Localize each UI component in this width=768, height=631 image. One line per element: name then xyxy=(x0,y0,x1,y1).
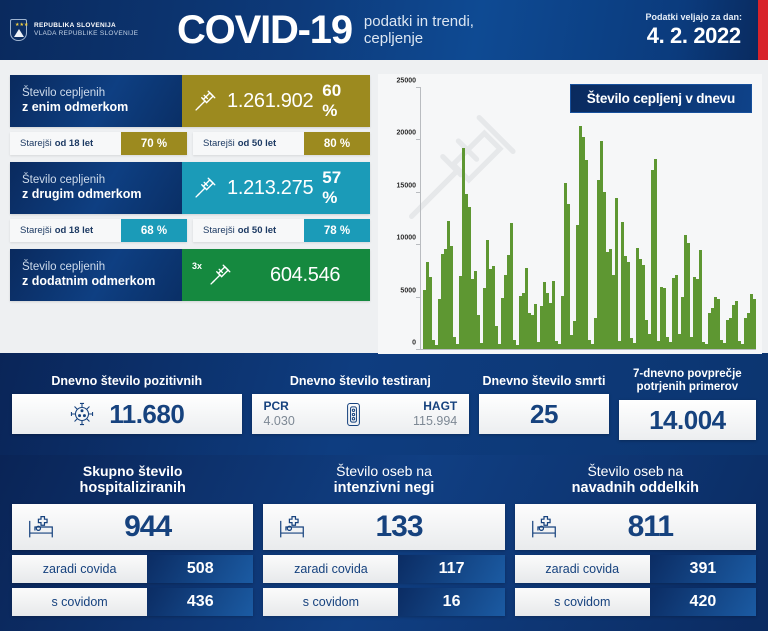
hospital-column-regular-wards: Število oseb na navadnih oddelkih 811 za… xyxy=(515,463,756,621)
hospital-bed-icon xyxy=(26,514,56,540)
vaccination-and-chart-section: Število cepljenih z enim odmerkom 1.261.… xyxy=(0,60,768,353)
value-due-to-covid: 508 xyxy=(147,555,253,583)
vaccination-panels: Število cepljenih z enim odmerkom 1.261.… xyxy=(0,68,378,353)
label-with-covid: s covidom xyxy=(515,588,650,616)
vaccination-row-first-dose: Število cepljenih z enim odmerkom 1.261.… xyxy=(10,75,370,127)
stat-daily-testing: Dnevno število testiranj PCR 4.030 HAGT … xyxy=(252,374,470,434)
label-with-covid: s covidom xyxy=(263,588,398,616)
booster-dose-label: Število cepljenih z dodatnim odmerkom xyxy=(10,249,182,301)
avg-title-line2: potrjenih primerov xyxy=(633,381,742,394)
chart-y-tick xyxy=(416,297,421,298)
second-dose-subrows: Starejši od 18 let 68 % Starejši od 50 l… xyxy=(10,219,370,242)
second-dose-age50-row: Starejši od 50 let 78 % xyxy=(193,219,370,242)
hospital-total-value: 944 xyxy=(56,510,239,544)
first-dose-percent: 60 % xyxy=(322,81,358,121)
label-with-covid: s covidom xyxy=(12,588,147,616)
hospital-regular-card: 811 xyxy=(515,504,756,550)
stat-seven-day-average-title: 7-dnevno povprečje potrjenih primerov xyxy=(633,368,742,394)
label-due-to-covid: zaradi covida xyxy=(12,555,147,583)
chart-container: Število cepljenj v dnevu 050001000015000… xyxy=(378,74,762,354)
first-dose-age50-label: Starejši od 50 let xyxy=(193,132,304,155)
chart-y-axis-label: 20000 xyxy=(397,130,416,137)
first-dose-age50-value: 80 % xyxy=(304,132,370,155)
hospital-column-icu: Število oseb na intenzivni negi 133 zara… xyxy=(263,463,504,621)
hospital-regular-value: 811 xyxy=(559,510,742,544)
value-with-covid: 16 xyxy=(398,588,504,616)
hospital-total-row-due-to-covid: zaradi covida 508 xyxy=(12,555,253,583)
first-dose-count: 1.261.902 xyxy=(227,90,313,113)
government-logo-block: ★★★ REPUBLIKA SLOVENIJA VLADA REPUBLIKE … xyxy=(0,19,175,41)
first-dose-label: Število cepljenih z enim odmerkom xyxy=(10,75,182,127)
chart-y-tick xyxy=(416,349,421,350)
chart-bar xyxy=(687,243,690,350)
vaccination-group-first-dose: Število cepljenih z enim odmerkom 1.261.… xyxy=(10,75,370,155)
label-due-to-covid: zaradi covida xyxy=(515,555,650,583)
syringe-icon xyxy=(192,175,218,201)
chart-y-axis-label: 10000 xyxy=(397,235,416,242)
hospital-icu-row-with-covid: s covidom 16 xyxy=(263,588,504,616)
first-dose-label-line1: Število cepljenih xyxy=(22,86,182,100)
avg-title-line1: 7-dnevno povprečje xyxy=(633,368,742,381)
syringe-icon xyxy=(207,262,233,288)
stat-daily-deaths-title: Dnevno število smrti xyxy=(482,374,605,388)
chart-bar xyxy=(654,159,657,350)
first-dose-age18-label: Starejši od 18 let xyxy=(10,132,121,155)
first-dose-age50-row: Starejši od 50 let 80 % xyxy=(193,132,370,155)
stat-seven-day-average-value: 14.004 xyxy=(649,405,726,436)
chart-y-tick xyxy=(416,139,421,140)
second-dose-value-block: 1.213.275 57 % xyxy=(182,162,370,214)
stat-daily-deaths-value: 25 xyxy=(530,399,558,430)
chart-y-tick xyxy=(416,244,421,245)
chart-y-tick xyxy=(416,87,421,88)
hospital-regular-row-due-to-covid: zaradi covida 391 xyxy=(515,555,756,583)
test-tube-icon xyxy=(345,401,362,428)
booster-dose-label-line1: Število cepljenih xyxy=(22,260,182,274)
chart-y-axis-label: 25000 xyxy=(397,78,416,85)
gov-line-1: REPUBLIKA SLOVENIJA xyxy=(34,22,138,30)
daily-vaccinations-chart-panel: Število cepljenj v dnevu 050001000015000… xyxy=(378,68,768,353)
first-dose-age18-value: 70 % xyxy=(121,132,187,155)
chart-baseline xyxy=(421,349,756,350)
hospital-total-title: Skupno število hospitaliziranih xyxy=(79,463,185,497)
hospitalization-section: Skupno število hospitaliziranih 944 zara… xyxy=(0,455,768,631)
chart-bar xyxy=(567,204,570,350)
data-date-block: Podatki veljajo za dan: 4. 2. 2022 xyxy=(645,12,742,49)
first-dose-value-block: 1.261.902 60 % xyxy=(182,75,370,127)
hospital-bed-icon xyxy=(277,514,307,540)
syringe-icon xyxy=(192,88,218,114)
hospital-total-card: 944 xyxy=(12,504,253,550)
label-due-to-covid: zaradi covida xyxy=(263,555,398,583)
hagt-group: HAGT 115.994 xyxy=(413,400,457,428)
stat-seven-day-average-card: 14.004 xyxy=(619,400,756,440)
gov-line-2: VLADA REPUBLIKE SLOVENIJE xyxy=(34,30,138,38)
stat-seven-day-average: 7-dnevno povprečje potrjenih primerov 14… xyxy=(619,368,756,440)
second-dose-age18-label: Starejši od 18 let xyxy=(10,219,121,242)
hospital-column-total: Skupno število hospitaliziranih 944 zara… xyxy=(12,463,253,621)
second-dose-count: 1.213.275 xyxy=(227,177,313,200)
chart-title: Število cepljenj v dnevu xyxy=(570,84,752,113)
chart-bar xyxy=(627,262,630,350)
second-dose-age18-row: Starejši od 18 let 68 % xyxy=(10,219,187,242)
stat-daily-positive-title: Dnevno število pozitivnih xyxy=(51,374,202,388)
stat-daily-positive-card: 11.680 xyxy=(12,394,242,434)
hospital-total-row-with-covid: s covidom 436 xyxy=(12,588,253,616)
booster-dose-label-line2: z dodatnim odmerkom xyxy=(22,274,182,290)
date-value: 4. 2. 2022 xyxy=(645,23,742,49)
value-with-covid: 420 xyxy=(650,588,756,616)
vaccination-row-booster-dose: Število cepljenih z dodatnim odmerkom 3x… xyxy=(10,249,370,301)
value-due-to-covid: 391 xyxy=(650,555,756,583)
chart-bar xyxy=(450,246,453,350)
page-header: ★★★ REPUBLIKA SLOVENIJA VLADA REPUBLIKE … xyxy=(0,0,768,60)
subtitle-line-1: podatki in trendi, xyxy=(364,13,474,30)
date-label: Podatki veljajo za dan: xyxy=(645,12,742,22)
hospital-icu-title: Število oseb na intenzivni negi xyxy=(334,463,435,497)
value-with-covid: 436 xyxy=(147,588,253,616)
second-dose-age50-value: 78 % xyxy=(304,219,370,242)
hospital-regular-row-with-covid: s covidom 420 xyxy=(515,588,756,616)
chart-y-axis-label: 0 xyxy=(412,340,416,347)
pcr-group: PCR 4.030 xyxy=(264,400,295,428)
chart-plot-area: 0500010000150002000025000 xyxy=(420,88,756,350)
second-dose-percent: 57 % xyxy=(322,168,358,208)
stat-daily-positive-value: 11.680 xyxy=(109,399,184,430)
hagt-label: HAGT xyxy=(423,400,457,413)
second-dose-label: Število cepljenih z drugim odmerkom xyxy=(10,162,182,214)
subtitle-line-2: cepljenje xyxy=(364,30,474,47)
chart-y-tick xyxy=(416,192,421,193)
hospital-icu-card: 133 xyxy=(263,504,504,550)
vaccination-group-booster-dose: Število cepljenih z dodatnim odmerkom 3x… xyxy=(10,249,370,301)
virus-icon xyxy=(69,401,95,427)
second-dose-age18-value: 68 % xyxy=(121,219,187,242)
stat-daily-testing-title: Dnevno število testiranj xyxy=(290,374,431,388)
booster-dose-badge: 3x xyxy=(192,261,202,271)
second-dose-label-line2: z drugim odmerkom xyxy=(22,187,182,203)
stat-daily-deaths-card: 25 xyxy=(479,394,608,434)
chart-bar xyxy=(753,299,756,350)
stat-daily-positive: Dnevno število pozitivnih 11.680 xyxy=(12,374,242,434)
coat-of-arms-icon: ★★★ xyxy=(10,19,27,41)
hagt-value: 115.994 xyxy=(413,414,457,428)
chart-bar xyxy=(585,160,588,350)
hospital-icu-row-due-to-covid: zaradi covida 117 xyxy=(263,555,504,583)
chart-bar xyxy=(615,198,618,350)
chart-y-axis-label: 5000 xyxy=(400,287,416,294)
hospital-bed-icon xyxy=(529,514,559,540)
pcr-value: 4.030 xyxy=(264,414,295,428)
chart-y-axis-label: 15000 xyxy=(397,182,416,189)
daily-statistics-band: Dnevno število pozitivnih 11.680 Dnevno … xyxy=(0,353,768,455)
booster-dose-value-block: 3x 604.546 xyxy=(182,249,370,301)
hospital-icu-value: 133 xyxy=(307,510,490,544)
hospital-regular-title: Število oseb na navadnih oddelkih xyxy=(572,463,699,497)
second-dose-label-line1: Število cepljenih xyxy=(22,173,182,187)
chart-bars xyxy=(423,88,756,350)
first-dose-subrows: Starejši od 18 let 70 % Starejši od 50 l… xyxy=(10,132,370,155)
first-dose-label-line2: z enim odmerkom xyxy=(22,100,182,116)
value-due-to-covid: 117 xyxy=(398,555,504,583)
vaccination-group-second-dose: Število cepljenih z drugim odmerkom 1.21… xyxy=(10,162,370,242)
stat-daily-deaths: Dnevno število smrti 25 xyxy=(479,374,608,434)
page-title: COVID-19 xyxy=(177,10,352,50)
chart-bar xyxy=(510,223,513,350)
pcr-label: PCR xyxy=(264,400,295,413)
page-subtitle: podatki in trendi, cepljenje xyxy=(364,13,474,47)
first-dose-age18-row: Starejši od 18 let 70 % xyxy=(10,132,187,155)
booster-dose-count: 604.546 xyxy=(270,264,340,287)
chart-bar xyxy=(699,250,702,350)
vaccination-row-second-dose: Število cepljenih z drugim odmerkom 1.21… xyxy=(10,162,370,214)
second-dose-age50-label: Starejši od 50 let xyxy=(193,219,304,242)
stat-daily-testing-card: PCR 4.030 HAGT 115.994 xyxy=(252,394,470,434)
